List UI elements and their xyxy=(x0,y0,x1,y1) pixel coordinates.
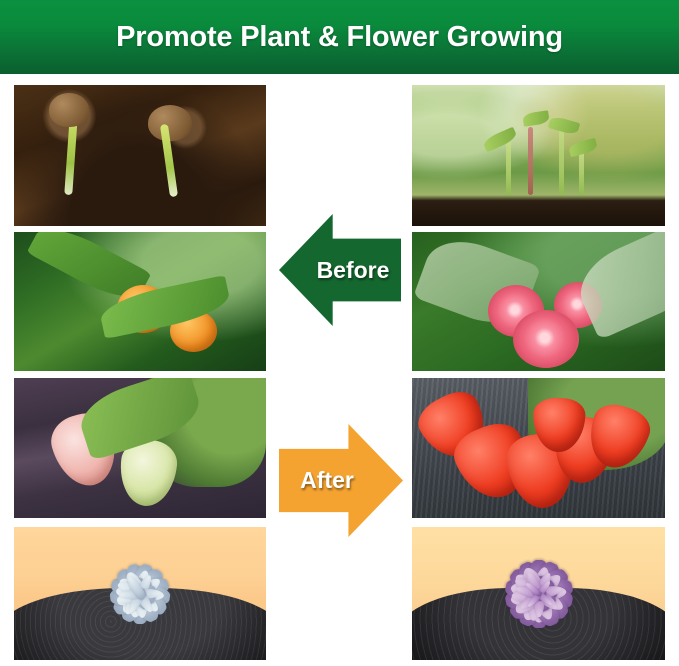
pink-roses-photo xyxy=(412,232,665,371)
after-arrow: After xyxy=(279,424,403,537)
orange-fruit-plant-photo xyxy=(14,232,266,371)
photo-unripe-strawberries xyxy=(14,378,266,518)
after-arrow-label: After xyxy=(300,467,382,494)
ripe-strawberries-photo xyxy=(412,378,665,518)
sprouts-in-soil-photo xyxy=(412,85,665,226)
orange-fruit-shape xyxy=(170,310,217,352)
purple-succulent-photo xyxy=(412,527,665,660)
photo-sprouts-in-soil xyxy=(412,85,665,226)
page-title: Promote Plant & Flower Growing xyxy=(116,21,563,54)
seedlings-in-soil-photo xyxy=(14,85,266,226)
rose-bloom-shape xyxy=(513,310,579,368)
pale-succulent-photo xyxy=(14,527,266,660)
before-arrow: Before xyxy=(279,214,401,326)
photo-pale-succulent xyxy=(14,527,266,660)
stem-shape xyxy=(506,141,511,195)
leaf-shape xyxy=(482,127,518,153)
photo-ripe-strawberries xyxy=(412,378,665,518)
seed-cap-icon xyxy=(148,105,192,141)
seed-cap-icon xyxy=(49,93,89,127)
stem-shape xyxy=(559,122,564,195)
unripe-strawberries-photo xyxy=(14,378,266,518)
orange-fruit-shape xyxy=(117,285,169,333)
stem-shape xyxy=(528,127,533,195)
unripe-strawberry-shape xyxy=(117,437,180,508)
photo-purple-succulent xyxy=(412,527,665,660)
before-arrow-label: Before xyxy=(291,257,390,284)
comparison-photo-grid xyxy=(0,74,679,666)
unripe-strawberry-shape xyxy=(46,407,125,493)
photo-orange-fruit-plant xyxy=(14,232,266,371)
leaf-shape xyxy=(523,110,551,126)
header-banner: Promote Plant & Flower Growing xyxy=(0,0,679,74)
photo-seedlings-in-soil xyxy=(14,85,266,226)
photo-pink-roses xyxy=(412,232,665,371)
